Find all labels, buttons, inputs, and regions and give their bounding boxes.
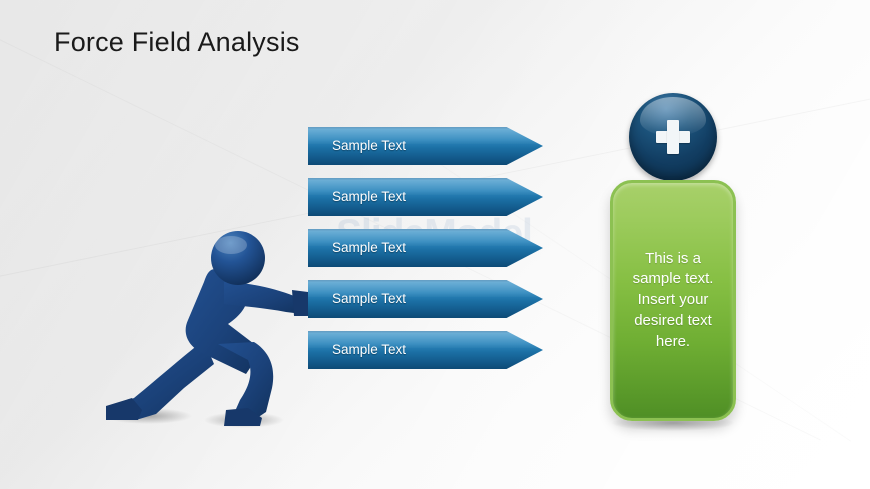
force-arrow[interactable]: Sample Text [308, 331, 543, 369]
plus-glyph [656, 120, 690, 154]
plus-bar-vertical [667, 120, 679, 154]
force-arrow-label: Sample Text [332, 280, 406, 318]
force-arrow[interactable]: Sample Text [308, 127, 543, 165]
person-pushing-icon [96, 228, 328, 434]
force-arrow[interactable]: Sample Text [308, 178, 543, 216]
force-arrow-label: Sample Text [332, 229, 406, 267]
force-arrow[interactable]: Sample Text [308, 280, 543, 318]
force-arrow-list: Sample Text Sample Text Sample Text Samp… [308, 127, 543, 382]
head-highlight [215, 236, 247, 254]
slide-canvas: Force Field Analysis SlideModel [0, 0, 870, 489]
target-panel[interactable]: This is a sample text. Insert your desir… [610, 180, 736, 421]
plus-circle-icon[interactable] [629, 93, 717, 181]
force-arrow-label: Sample Text [332, 127, 406, 165]
force-arrow-label: Sample Text [332, 178, 406, 216]
target-panel-text: This is a sample text. Insert your desir… [613, 249, 733, 352]
force-arrow-label: Sample Text [332, 331, 406, 369]
force-arrow[interactable]: Sample Text [308, 229, 543, 267]
page-title: Force Field Analysis [54, 27, 300, 58]
